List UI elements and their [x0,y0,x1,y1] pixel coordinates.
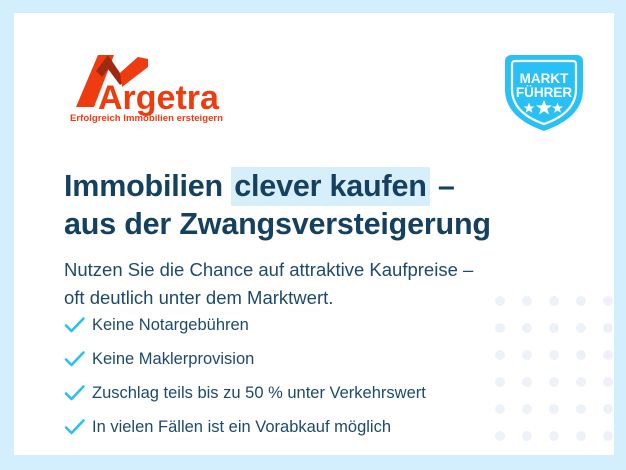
list-item-label: Keine Maklerprovision [92,348,254,370]
logo-tagline: Erfolgreich Immobilien ersteigern [70,113,223,123]
check-icon [64,416,92,438]
check-icon [64,348,92,370]
promo-card: Argetra Erfolgreich Immobilien ersteiger… [14,13,614,455]
list-item-label: Keine Notargebühren [92,314,249,336]
check-icon [64,382,92,404]
list-item-label: In vielen Fällen ist ein Vorabkauf mögli… [92,416,391,438]
headline-prefix: Immobilien [64,169,231,203]
subheading-line-1: Nutzen Sie die Chance auf attraktive Kau… [64,256,584,285]
benefits-list: Keine Notargebühren Keine Maklerprovisio… [64,310,564,446]
badge-line2: FÜHRER [516,85,572,100]
list-item-label: Zuschlag teils bis zu 50 % unter Verkehr… [92,382,426,404]
list-item: In vielen Fällen ist ein Vorabkauf mögli… [64,412,564,442]
subheading: Nutzen Sie die Chance auf attraktive Kau… [64,256,584,313]
promo-banner: Argetra Erfolgreich Immobilien ersteiger… [0,0,626,470]
badge-line1: MARKT [520,71,569,86]
headline-highlight: clever kaufen [231,167,429,206]
logo-wordmark: Argetra [98,79,220,117]
list-item: Zuschlag teils bis zu 50 % unter Verkehr… [64,378,564,408]
check-icon [64,314,92,336]
headline-line-1: Immobilien clever kaufen – [64,167,594,205]
argetra-logo[interactable]: Argetra Erfolgreich Immobilien ersteiger… [62,51,252,123]
headline-line-2: aus der Zwangsversteigerung [64,205,594,243]
list-item: Keine Maklerprovision [64,344,564,374]
headline-suffix: – [430,169,455,203]
subheading-line-2: oft deutlich unter dem Marktwert. [64,284,584,313]
headline: Immobilien clever kaufen – aus der Zwang… [64,167,594,243]
list-item: Keine Notargebühren [64,310,564,340]
market-leader-badge: MARKT FÜHRER [501,49,587,133]
